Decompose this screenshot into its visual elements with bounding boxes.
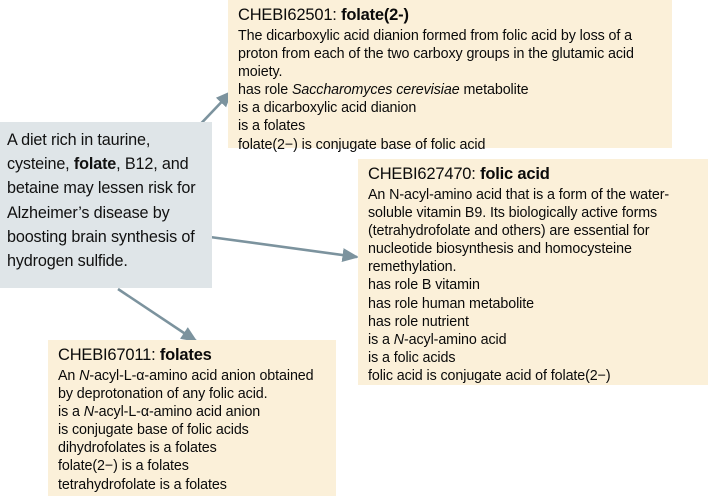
term-name: folic acid (480, 165, 550, 183)
term-relations: is a N-acyl-L-α-amino acid anionis conju… (58, 403, 328, 493)
term-relation-line: is a N-acyl-amino acid (368, 331, 700, 349)
term-relation-line: has role human metabolite (368, 295, 700, 313)
term-definition: An N-acyl-L-α-amino acid anion obtained … (58, 367, 328, 403)
term-id: CHEBI62501: (238, 6, 341, 24)
term-relation-line: has role nutrient (368, 313, 700, 331)
term-name: folates (160, 346, 212, 364)
term-relation-line: folate(2−) is a folates (58, 457, 328, 475)
term-card-chebi62501: CHEBI62501: folate(2-) The dicarboxylic … (228, 0, 672, 148)
term-card-chebi67011: CHEBI67011: folates An N-acyl-L-α-amino … (48, 340, 336, 496)
term-id: CHEBI67011: (58, 346, 160, 364)
term-name: folate(2-) (341, 6, 409, 24)
arrow-to-folic-acid (210, 237, 357, 257)
term-relation-line: tetrahydrofolate is a folates (58, 476, 328, 494)
term-relation-line: is a N-acyl-L-α-amino acid anion (58, 403, 328, 421)
term-relations: has role B vitaminhas role human metabol… (368, 276, 700, 385)
term-relation-line: folic acid is conjugate acid of folate(2… (368, 367, 700, 385)
arrow-to-folates (118, 289, 196, 341)
term-card-chebi627470: CHEBI627470: folic acid An N-acyl-amino … (358, 159, 708, 385)
term-id: CHEBI627470: (368, 165, 480, 183)
term-relation-line: is a folic acids (368, 349, 700, 367)
term-relation-line: dihydrofolates is a folates (58, 439, 328, 457)
term-title: CHEBI62501: folate(2-) (238, 5, 664, 26)
term-relation-line: has role Saccharomyces cerevisiae metabo… (238, 81, 664, 99)
term-relation-line: folate(2−) is conjugate base of folic ac… (238, 136, 664, 154)
term-relation-line: is a dicarboxylic acid dianion (238, 99, 664, 117)
term-title: CHEBI67011: folates (58, 345, 328, 366)
source-sentence-box: A diet rich in taurine, cysteine, folate… (0, 122, 212, 288)
term-definition: The dicarboxylic acid dianion formed fro… (238, 27, 664, 81)
term-relation-line: is a folates (238, 117, 664, 135)
term-relation-line: has role B vitamin (368, 276, 700, 294)
term-relation-line: is conjugate base of folic acids (58, 421, 328, 439)
source-sentence-text: A diet rich in taurine, cysteine, folate… (7, 128, 204, 273)
term-relations: has role Saccharomyces cerevisiae metabo… (238, 81, 664, 153)
term-title: CHEBI627470: folic acid (368, 164, 700, 185)
term-definition: An N-acyl-amino acid that is a form of t… (368, 186, 700, 276)
